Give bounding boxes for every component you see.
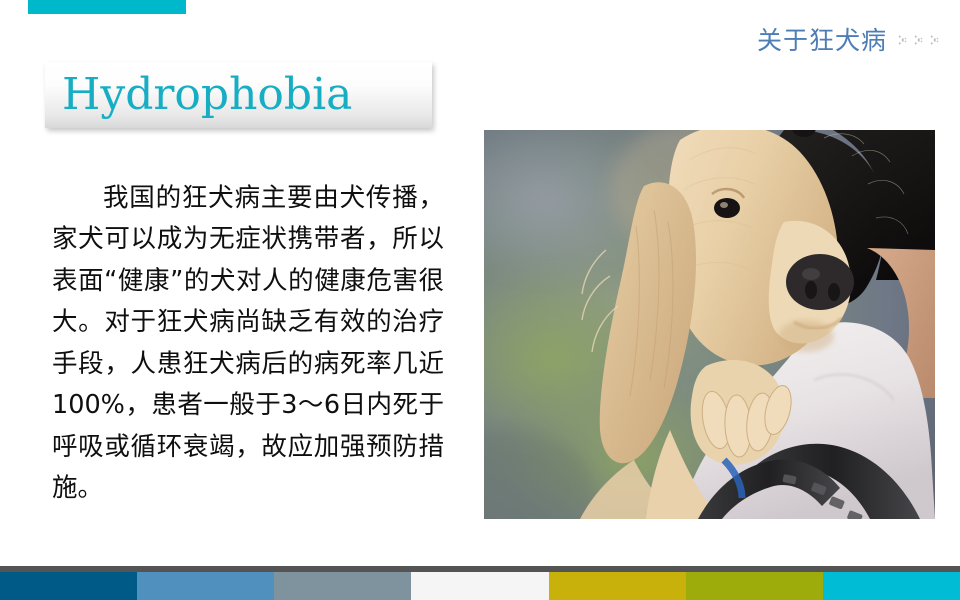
footer-color-bar bbox=[0, 572, 960, 600]
photo-illustration bbox=[484, 130, 935, 519]
footer-swatch-gold bbox=[549, 572, 686, 600]
footer-swatch-steel-blue bbox=[137, 572, 274, 600]
title-plate: Hydrophobia bbox=[45, 62, 432, 128]
header-title: 关于狂犬病 bbox=[757, 28, 887, 53]
footer-swatch-off-white bbox=[411, 572, 548, 600]
body-paragraph: 我国的狂犬病主要由犬传播，家犬可以成为无症状携带者，所以表面“健康”的犬对人的健… bbox=[52, 178, 444, 510]
slide-header: 关于狂犬病 bbox=[757, 28, 942, 53]
top-accent-bar bbox=[28, 0, 186, 14]
chevron-left-dotted-icon-group bbox=[897, 31, 942, 51]
footer-swatch-cyan bbox=[823, 572, 960, 600]
chevron-left-dotted-icon bbox=[897, 31, 910, 49]
chevron-left-dotted-icon bbox=[913, 31, 926, 49]
page-title: Hydrophobia bbox=[45, 73, 352, 117]
chevron-left-dotted-icon bbox=[929, 31, 942, 49]
footer-swatch-olive-green bbox=[686, 572, 823, 600]
golden-retriever-hugging-person-photo bbox=[484, 130, 935, 519]
footer-swatch-dark-blue bbox=[0, 572, 137, 600]
footer-swatch-slate-gray bbox=[274, 572, 411, 600]
